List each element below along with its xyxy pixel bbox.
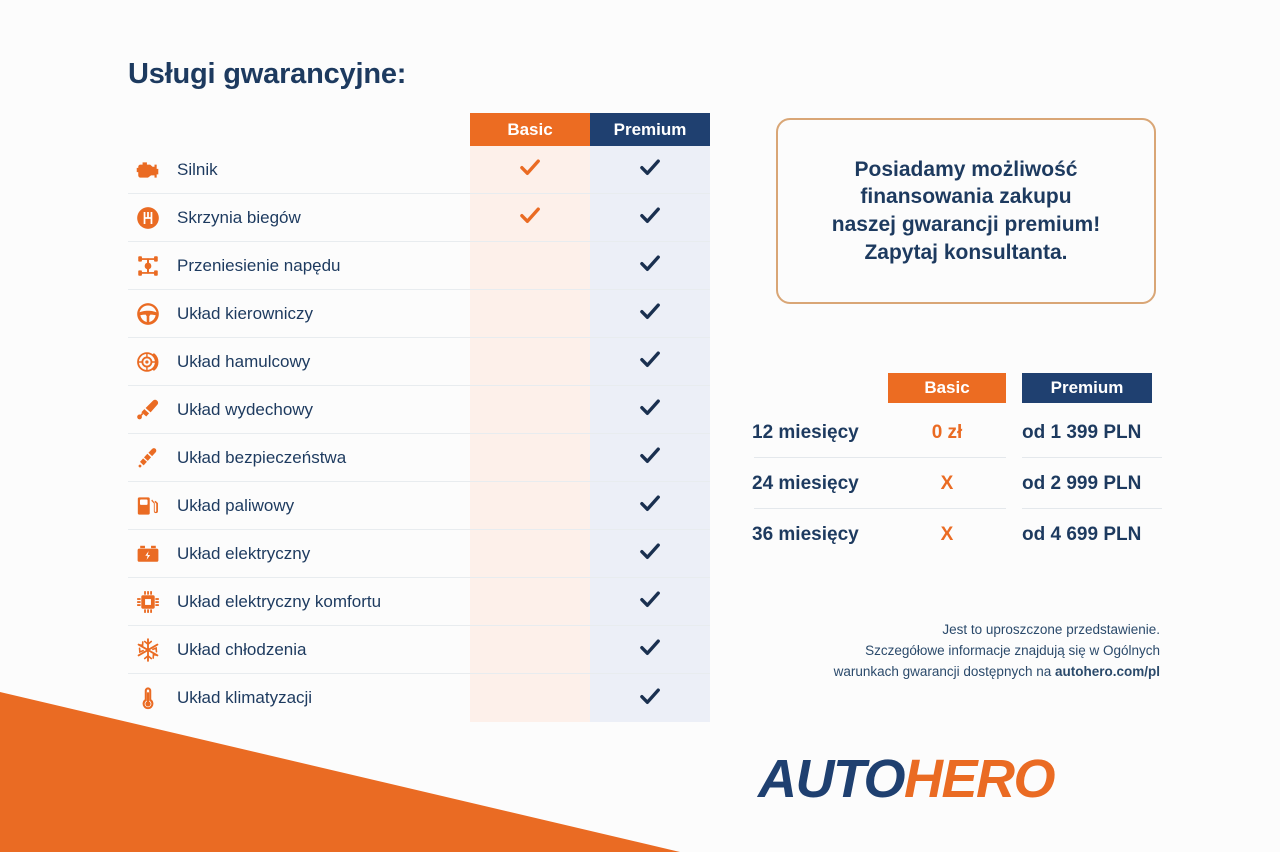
row-label-cell: Układ kierowniczy: [128, 299, 470, 329]
column-header-basic: Basic: [470, 113, 590, 146]
row-label-cell: Układ elektryczny komfortu: [128, 587, 470, 617]
check-icon: [637, 298, 663, 329]
row-label: Układ kierowniczy: [177, 304, 313, 324]
header-spacer: [128, 113, 470, 146]
warranty-price-table: Basic Premium 12 miesięcy0 złod 1 399 PL…: [752, 373, 1162, 560]
column-header-premium: Premium: [590, 113, 710, 146]
cell-premium: [590, 538, 710, 569]
row-label-cell: Przeniesienie napędu: [128, 251, 470, 281]
table-row: Układ kierowniczy: [128, 290, 710, 338]
row-label-cell: Układ paliwowy: [128, 491, 470, 521]
warranty-services-panel: Usługi gwarancyjne: Basic Premium Silnik…: [128, 58, 718, 722]
price-premium: od 4 699 PLN: [1022, 524, 1162, 546]
price-table-body: 12 miesięcy0 złod 1 399 PLN24 miesięcyXo…: [752, 407, 1162, 560]
row-label: Układ paliwowy: [177, 496, 294, 516]
fuel-pump-icon: [133, 491, 163, 521]
check-icon: [637, 683, 663, 714]
cell-basic: [470, 202, 590, 233]
check-icon: [637, 154, 663, 185]
footnote-line-1: Jest to uproszczone przedstawienie.: [942, 622, 1160, 637]
snowflake-icon: [133, 635, 163, 665]
financing-info-box: Posiadamy możliwość finansowania zakupu …: [776, 118, 1156, 304]
check-icon: [637, 490, 663, 521]
seatbelt-icon: [133, 443, 163, 473]
price-header-gap: [1006, 373, 1022, 403]
exhaust-icon: [133, 395, 163, 425]
check-icon: [637, 250, 663, 281]
financing-info-text: Posiadamy możliwość finansowania zakupu …: [816, 156, 1116, 267]
table-row: Układ chłodzenia: [128, 626, 710, 674]
cell-basic: [470, 154, 590, 185]
comparison-table-header: Basic Premium: [128, 113, 710, 146]
price-row: 36 miesięcyXod 4 699 PLN: [752, 509, 1162, 560]
row-label: Układ hamulcowy: [177, 352, 310, 372]
cell-premium: [590, 154, 710, 185]
table-row: Układ elektryczny: [128, 530, 710, 578]
check-icon: [517, 202, 543, 233]
price-premium: od 2 999 PLN: [1022, 473, 1162, 495]
price-period: 24 miesięcy: [752, 473, 888, 495]
row-label-cell: Układ elektryczny: [128, 539, 470, 569]
price-row: 12 miesięcy0 złod 1 399 PLN: [752, 407, 1162, 458]
check-icon: [637, 202, 663, 233]
price-premium: od 1 399 PLN: [1022, 422, 1162, 444]
check-icon: [637, 442, 663, 473]
row-label: Układ bezpieczeństwa: [177, 448, 346, 468]
drivetrain-icon: [133, 251, 163, 281]
row-label: Układ klimatyzacji: [177, 688, 312, 708]
battery-icon: [133, 539, 163, 569]
table-row: Układ paliwowy: [128, 482, 710, 530]
row-label: Układ chłodzenia: [177, 640, 306, 660]
price-basic: X: [888, 473, 1006, 495]
row-label: Układ elektryczny komfortu: [177, 592, 381, 612]
logo-auto: AUTO: [758, 749, 904, 809]
cell-premium: [590, 442, 710, 473]
price-basic: X: [888, 524, 1006, 546]
cell-premium: [590, 298, 710, 329]
cell-premium: [590, 683, 710, 714]
price-period: 12 miesięcy: [752, 422, 888, 444]
table-row: Układ wydechowy: [128, 386, 710, 434]
footnote-link[interactable]: autohero.com/pl: [1055, 664, 1160, 679]
table-row: Przeniesienie napędu: [128, 242, 710, 290]
row-label-cell: Układ chłodzenia: [128, 635, 470, 665]
row-label-cell: Układ hamulcowy: [128, 347, 470, 377]
row-label: Przeniesienie napędu: [177, 256, 341, 276]
table-row: Silnik: [128, 146, 710, 194]
table-row: Układ klimatyzacji: [128, 674, 710, 722]
footnote-line-3-prefix: warunkach gwarancji dostępnych na: [834, 664, 1055, 679]
row-label-cell: Układ bezpieczeństwa: [128, 443, 470, 473]
price-table-header: Basic Premium: [752, 373, 1162, 403]
price-header-spacer: [752, 373, 888, 403]
autohero-logo: AUTOHERO: [758, 748, 1054, 810]
price-period: 36 miesięcy: [752, 524, 888, 546]
table-row: Skrzynia biegów: [128, 194, 710, 242]
table-row: Układ hamulcowy: [128, 338, 710, 386]
row-label: Układ elektryczny: [177, 544, 310, 564]
footnote-line-2: Szczegółowe informacje znajdują się w Og…: [865, 643, 1160, 658]
page-title: Usługi gwarancyjne:: [128, 58, 718, 91]
check-icon: [637, 394, 663, 425]
check-icon: [637, 346, 663, 377]
microchip-icon: [133, 587, 163, 617]
thermometer-icon: [133, 683, 163, 713]
table-row: Układ bezpieczeństwa: [128, 434, 710, 482]
brake-disc-icon: [133, 347, 163, 377]
row-label: Silnik: [177, 160, 218, 180]
price-column-header-basic: Basic: [888, 373, 1006, 403]
cell-premium: [590, 202, 710, 233]
comparison-table-body: SilnikSkrzynia biegówPrzeniesienie napęd…: [128, 146, 710, 722]
price-basic: 0 zł: [888, 422, 1006, 444]
check-icon: [637, 634, 663, 665]
warranty-comparison-table: Basic Premium SilnikSkrzynia biegówPrzen…: [128, 113, 710, 722]
check-icon: [517, 154, 543, 185]
check-icon: [637, 586, 663, 617]
gearbox-icon: [133, 203, 163, 233]
cell-premium: [590, 346, 710, 377]
cell-premium: [590, 490, 710, 521]
financing-line-1: Posiadamy możliwość: [855, 158, 1078, 181]
row-label-cell: Układ wydechowy: [128, 395, 470, 425]
financing-line-2: finansowania zakupu: [860, 185, 1071, 208]
cell-premium: [590, 634, 710, 665]
row-label-cell: Układ klimatyzacji: [128, 683, 470, 713]
cell-premium: [590, 394, 710, 425]
price-column-header-premium: Premium: [1022, 373, 1152, 403]
engine-icon: [133, 155, 163, 185]
steering-wheel-icon: [133, 299, 163, 329]
row-label: Układ wydechowy: [177, 400, 313, 420]
logo-hero: HERO: [904, 749, 1054, 809]
row-label: Skrzynia biegów: [177, 208, 301, 228]
financing-line-4: Zapytaj konsultanta.: [864, 241, 1067, 264]
price-row: 24 miesięcyXod 2 999 PLN: [752, 458, 1162, 509]
cell-premium: [590, 250, 710, 281]
table-row: Układ elektryczny komfortu: [128, 578, 710, 626]
row-label-cell: Silnik: [128, 155, 470, 185]
cell-premium: [590, 586, 710, 617]
row-label-cell: Skrzynia biegów: [128, 203, 470, 233]
financing-line-3: naszej gwarancji premium!: [832, 213, 1100, 236]
check-icon: [637, 538, 663, 569]
